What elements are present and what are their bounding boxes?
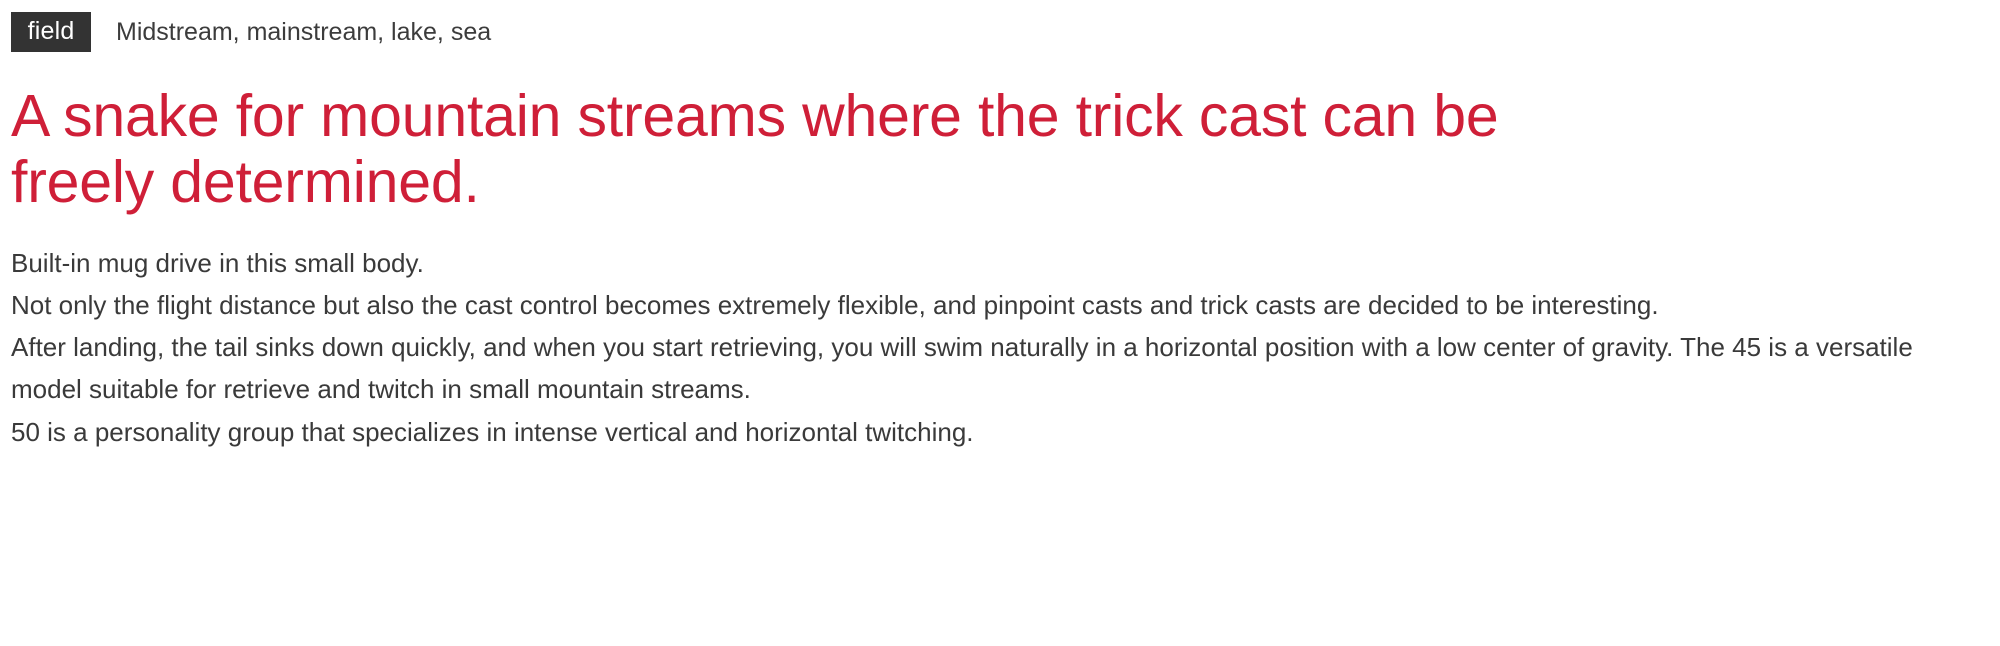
field-values-text: Midstream, mainstream, lake, sea [116,20,491,45]
description-paragraph: After landing, the tail sinks down quick… [11,326,1971,410]
description-body: Built-in mug drive in this small body. N… [11,242,1971,453]
page-title: A snake for mountain streams where the t… [11,83,1541,215]
description-paragraph: Not only the flight distance but also th… [11,284,1971,326]
field-meta-row: field Midstream, mainstream, lake, sea [11,12,1980,52]
description-paragraph: 50 is a personality group that specializ… [11,411,1971,453]
product-description-page: field Midstream, mainstream, lake, sea A… [0,0,2000,646]
description-paragraph: Built-in mug drive in this small body. [11,242,1971,284]
field-badge: field [11,12,91,52]
